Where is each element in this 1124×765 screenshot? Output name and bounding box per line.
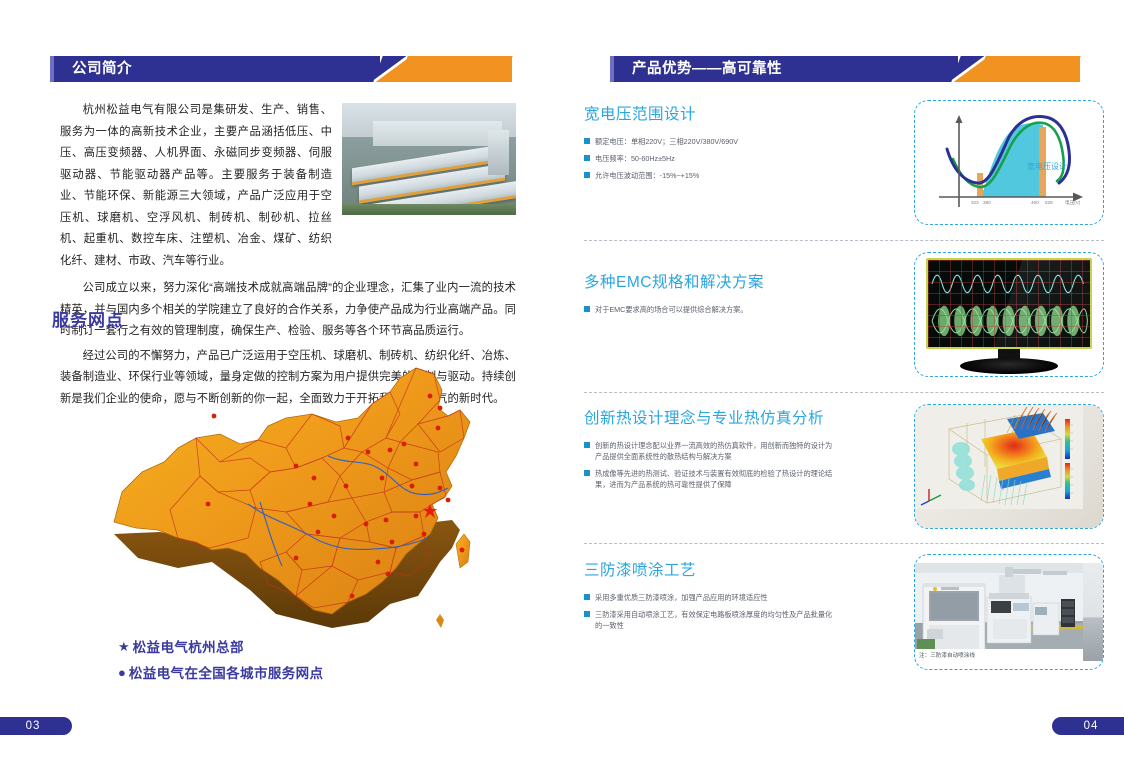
chart-tick-528: 528 bbox=[1045, 200, 1053, 205]
factory-aerial-photo bbox=[342, 103, 516, 215]
feature-emc: 多种EMC规格和解决方案 对于EMC要求高的场合可以提供综合解决方案。 bbox=[584, 268, 1104, 386]
coating-line-frame: 注：三防漆自动喷涂线 bbox=[914, 554, 1104, 670]
feature-coating-bullets: 采用多重优质三防漆喷涂，加强产品应用的环境适应性 三防漆采用自动喷涂工艺，有效保… bbox=[584, 592, 834, 631]
bullet-item: 创新的热设计理念配以业界一流高效的热仿真软件，用创新而独特的设计为产品提供全面系… bbox=[584, 440, 834, 462]
dot-icon: ● bbox=[118, 666, 126, 679]
feature-emc-title: 多种EMC规格和解决方案 bbox=[584, 270, 834, 292]
page-number-right: 04 bbox=[1052, 717, 1124, 735]
bullet-text: 允许电压波动范围：-15%~+15% bbox=[595, 170, 834, 181]
feature-emc-text: 多种EMC规格和解决方案 对于EMC要求高的场合可以提供综合解决方案。 bbox=[584, 268, 834, 386]
star-icon: ★ bbox=[118, 640, 130, 653]
chart-tick-380: 380 bbox=[983, 200, 991, 205]
left-page: 公司简介 杭州松益电气有限公司是集研发、生产、销售、服务为一体的高新技术企业，主… bbox=[0, 0, 562, 765]
page-number-left: 03 bbox=[0, 717, 72, 735]
bullet-square-icon bbox=[584, 594, 590, 600]
feature-thermal-title: 创新热设计理念与专业热仿真分析 bbox=[584, 406, 834, 428]
legend-item-headquarters: ★ 松益电气杭州总部 bbox=[118, 636, 323, 656]
bullet-text: 创新的热设计理念配以业界一流高效的热仿真软件，用创新而独特的设计为产品提供全面系… bbox=[595, 440, 834, 462]
divider-1 bbox=[584, 240, 1104, 241]
service-network-heading: 服务网点 bbox=[52, 306, 124, 331]
feature-wide-voltage-text: 宽电压范围设计 额定电压：单相220V；三相220V/380V/690V 电压频… bbox=[584, 100, 834, 228]
feature-coating: 三防漆喷涂工艺 采用多重优质三防漆喷涂，加强产品应用的环境适应性 三防漆采用自动… bbox=[584, 556, 1104, 676]
monitor-base bbox=[960, 358, 1058, 374]
feature-coating-title: 三防漆喷涂工艺 bbox=[584, 558, 834, 580]
thermal-colorbar-1 bbox=[1065, 419, 1070, 459]
thermal-colorbar-2 bbox=[1065, 463, 1070, 499]
bullet-square-icon bbox=[584, 306, 590, 312]
right-section-banner: 产品优势——高可靠性 bbox=[610, 56, 1080, 82]
thermal-sim-svg bbox=[915, 405, 1083, 509]
feature-emc-bullets: 对于EMC要求高的场合可以提供综合解决方案。 bbox=[584, 304, 834, 315]
left-banner-title: 公司简介 bbox=[72, 56, 132, 82]
thermal-sim-frame bbox=[914, 404, 1104, 529]
chart-x-axis-label: 电压(V) bbox=[1065, 200, 1080, 206]
bullet-item: 电压频率：50-60Hz±5Hz bbox=[584, 153, 834, 164]
banner-orange-block bbox=[398, 56, 512, 82]
bullet-square-icon bbox=[584, 470, 590, 476]
map-legend: ★ 松益电气杭州总部 ● 松益电气在全国各城市服务网点 bbox=[118, 636, 323, 688]
chart-tick-323: 323 bbox=[971, 200, 979, 205]
bullet-square-icon bbox=[584, 611, 590, 617]
paragraph-2: 公司成立以来，努力深化“高端技术成就高端品牌”的企业理念，汇集了业内一流的技术精… bbox=[60, 278, 516, 343]
feature-thermal-bullets: 创新的热设计理念配以业界一流高效的热仿真软件，用创新而独特的设计为产品提供全面系… bbox=[584, 440, 834, 490]
photo-machine-2 bbox=[987, 593, 1031, 643]
intro-first-paragraph-col: 杭州松益电气有限公司是集研发、生产、销售、服务为一体的高新技术企业，主要产品涵括… bbox=[60, 100, 332, 272]
map-south-sea-islands bbox=[436, 614, 444, 628]
bullet-square-icon bbox=[584, 138, 590, 144]
feature-thermal: 创新热设计理念与专业热仿真分析 创新的热设计理念配以业界一流高效的热仿真软件，用… bbox=[584, 404, 1104, 532]
right-page: 产品优势——高可靠性 宽电压范围设计 额定电压：单相220V；三相220V/38… bbox=[562, 0, 1124, 765]
paragraph-1: 杭州松益电气有限公司是集研发、生产、销售、服务为一体的高新技术企业，主要产品涵括… bbox=[60, 100, 332, 272]
bullet-item: 三防漆采用自动喷涂工艺，有效保定电路板喷涂厚度的均匀性及产品批量化的一致性 bbox=[584, 609, 834, 631]
china-service-map bbox=[100, 352, 500, 642]
oscilloscope-waveform-monitor bbox=[915, 253, 1103, 376]
bullet-item: 采用多重优质三防漆喷涂，加强产品应用的环境适应性 bbox=[584, 592, 834, 603]
chart-y-arrow bbox=[956, 115, 963, 123]
bullet-square-icon bbox=[584, 442, 590, 448]
photo-office-tower bbox=[488, 130, 509, 175]
photo-machine-3 bbox=[1033, 603, 1059, 635]
feature-wide-voltage-bullets: 额定电压：单相220V；三相220V/380V/690V 电压频率：50-60H… bbox=[584, 136, 834, 181]
wide-voltage-chart: 宽电压设计 323 380 460 528 电压(V) bbox=[925, 111, 1093, 215]
china-map-svg bbox=[100, 352, 500, 642]
photo-racks bbox=[1061, 599, 1075, 627]
chart-annotation-label: 宽电压设计 bbox=[1027, 161, 1067, 172]
feature-coating-text: 三防漆喷涂工艺 采用多重优质三防漆喷涂，加强产品应用的环境适应性 三防漆采用自动… bbox=[584, 556, 834, 676]
thermal-simulation-render bbox=[915, 405, 1103, 528]
banner-blue-block: 公司简介 bbox=[50, 56, 380, 82]
wide-voltage-chart-frame: 宽电压设计 323 380 460 528 电压(V) bbox=[914, 100, 1104, 225]
bullet-text: 三防漆采用自动喷涂工艺，有效保定电路板喷涂厚度的均匀性及产品批量化的一致性 bbox=[595, 609, 834, 631]
bullet-item: 允许电压波动范围：-15%~+15% bbox=[584, 170, 834, 181]
monitor-screen bbox=[926, 258, 1091, 349]
legend-label-headquarters: 松益电气杭州总部 bbox=[133, 636, 244, 656]
left-section-banner: 公司简介 bbox=[50, 56, 512, 82]
photo-main-building bbox=[373, 121, 502, 146]
chart-marker-band-low bbox=[977, 173, 983, 197]
emc-monitor-frame bbox=[914, 252, 1104, 377]
banner-orange-block-right bbox=[976, 56, 1080, 82]
legend-item-service-points: ● 松益电气在全国各城市服务网点 bbox=[118, 662, 323, 682]
brochure-spread: 公司简介 杭州松益电气有限公司是集研发、生产、销售、服务为一体的高新技术企业，主… bbox=[0, 0, 1124, 765]
coating-line-svg bbox=[915, 563, 1083, 661]
bullet-square-icon bbox=[584, 172, 590, 178]
bullet-text: 对于EMC要求高的场合可以提供综合解决方案。 bbox=[595, 304, 834, 315]
coating-line-photo: 注：三防漆自动喷涂线 bbox=[915, 563, 1103, 661]
divider-3 bbox=[584, 543, 1104, 544]
right-banner-title: 产品优势——高可靠性 bbox=[632, 56, 782, 82]
legend-label-service-points: 松益电气在全国各城市服务网点 bbox=[129, 662, 324, 682]
chart-tick-460: 460 bbox=[1031, 200, 1039, 205]
coating-photo-caption: 注：三防漆自动喷涂线 bbox=[919, 651, 975, 659]
feature-wide-voltage-title: 宽电压范围设计 bbox=[584, 102, 834, 124]
bullet-text: 额定电压：单相220V；三相220V/380V/690V bbox=[595, 136, 834, 147]
bullet-item: 对于EMC要求高的场合可以提供综合解决方案。 bbox=[584, 304, 834, 315]
bullet-item: 额定电压：单相220V；三相220V/380V/690V bbox=[584, 136, 834, 147]
bullet-text: 热成像等先进的热测试、验证技术与装置有效彻底的检验了热设计的理论结果，进而为产品… bbox=[595, 468, 834, 490]
feature-thermal-text: 创新热设计理念与专业热仿真分析 创新的热设计理念配以业界一流高效的热仿真软件，用… bbox=[584, 404, 834, 532]
banner-blue-block-right: 产品优势——高可靠性 bbox=[610, 56, 958, 82]
bullet-square-icon bbox=[584, 155, 590, 161]
bullet-item: 热成像等先进的热测试、验证技术与装置有效彻底的检验了热设计的理论结果，进而为产品… bbox=[584, 468, 834, 490]
divider-2 bbox=[584, 392, 1104, 393]
feature-wide-voltage: 宽电压范围设计 额定电压：单相220V；三相220V/380V/690V 电压频… bbox=[584, 100, 1104, 228]
bullet-text: 电压频率：50-60Hz±5Hz bbox=[595, 153, 834, 164]
photo-greenery bbox=[342, 204, 516, 215]
bullet-text: 采用多重优质三防漆喷涂，加强产品应用的环境适应性 bbox=[595, 592, 834, 603]
